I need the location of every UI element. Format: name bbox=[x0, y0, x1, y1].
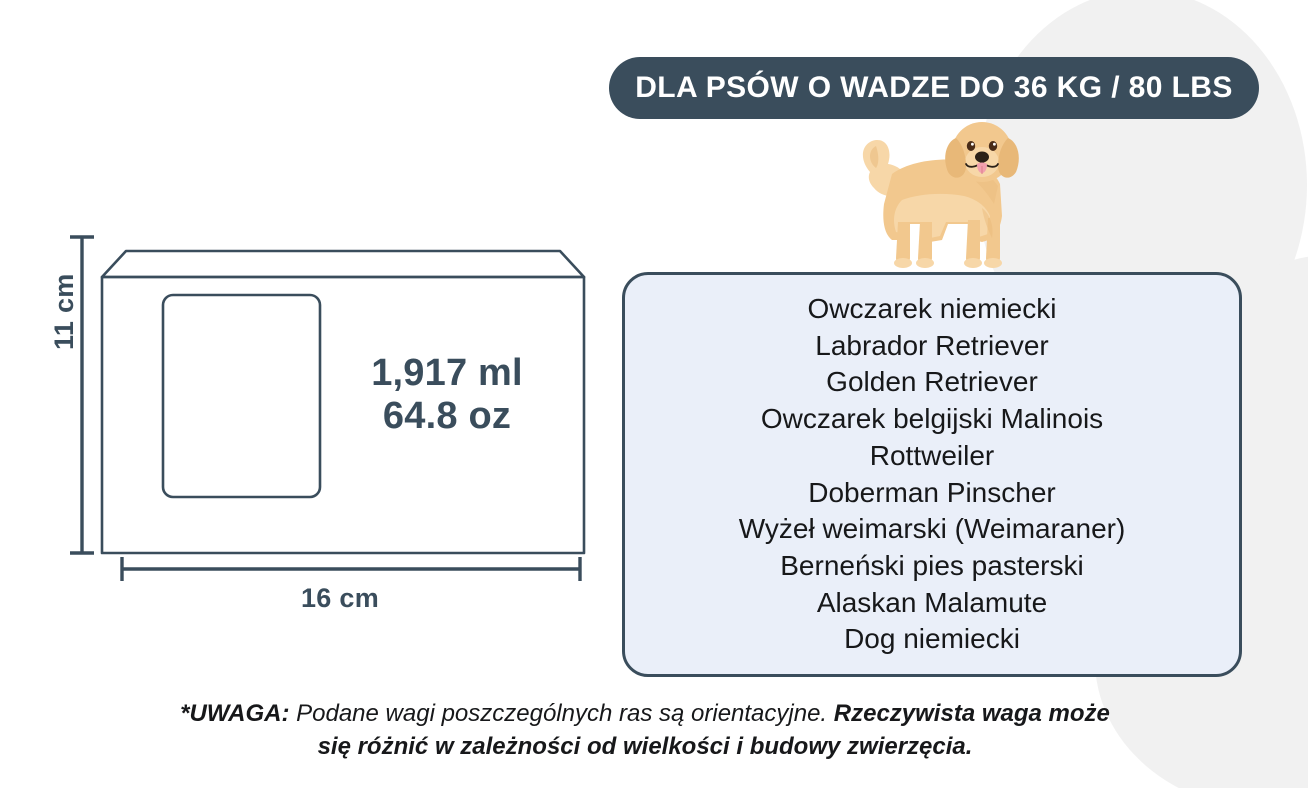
width-dimension-line bbox=[122, 557, 580, 581]
box-height-label: 11 cm bbox=[49, 273, 80, 350]
breed-list-panel: Owczarek niemiecki Labrador Retriever Go… bbox=[622, 272, 1242, 677]
infographic-canvas: DLA PSÓW O WADZE DO 36 KG / 80 LBS bbox=[0, 0, 1308, 788]
breed-item: Owczarek niemiecki bbox=[808, 291, 1057, 328]
box-volume-block: 1,917 ml 64.8 oz bbox=[352, 352, 542, 437]
breed-item: Berneński pies pasterski bbox=[780, 548, 1083, 585]
breed-item: Golden Retriever bbox=[826, 364, 1038, 401]
breed-item: Alaskan Malamute bbox=[817, 585, 1047, 622]
box-width-label: 16 cm bbox=[60, 583, 620, 614]
footnote-body: Podane wagi poszczególnych ras są orient… bbox=[289, 700, 833, 727]
header-title: DLA PSÓW O WADZE DO 36 KG / 80 LBS bbox=[635, 71, 1233, 105]
volume-oz: 64.8 oz bbox=[352, 395, 542, 438]
breed-item: Owczarek belgijski Malinois bbox=[761, 401, 1103, 438]
breed-item: Wyżeł weimarski (Weimaraner) bbox=[739, 511, 1126, 548]
footnote: *UWAGA: Podane wagi poszczególnych ras s… bbox=[180, 697, 1110, 763]
breed-item: Dog niemiecki bbox=[844, 621, 1020, 658]
breed-item: Labrador Retriever bbox=[815, 328, 1048, 365]
box-window bbox=[163, 295, 320, 497]
breed-item: Doberman Pinscher bbox=[808, 475, 1055, 512]
volume-ml: 1,917 ml bbox=[352, 352, 542, 395]
breed-item: Rottweiler bbox=[870, 438, 994, 475]
box-top-bevel bbox=[102, 251, 584, 277]
header-pill: DLA PSÓW O WADZE DO 36 KG / 80 LBS bbox=[609, 57, 1259, 119]
footnote-label: *UWAGA: bbox=[180, 700, 289, 727]
golden-retriever-icon bbox=[856, 112, 1036, 272]
